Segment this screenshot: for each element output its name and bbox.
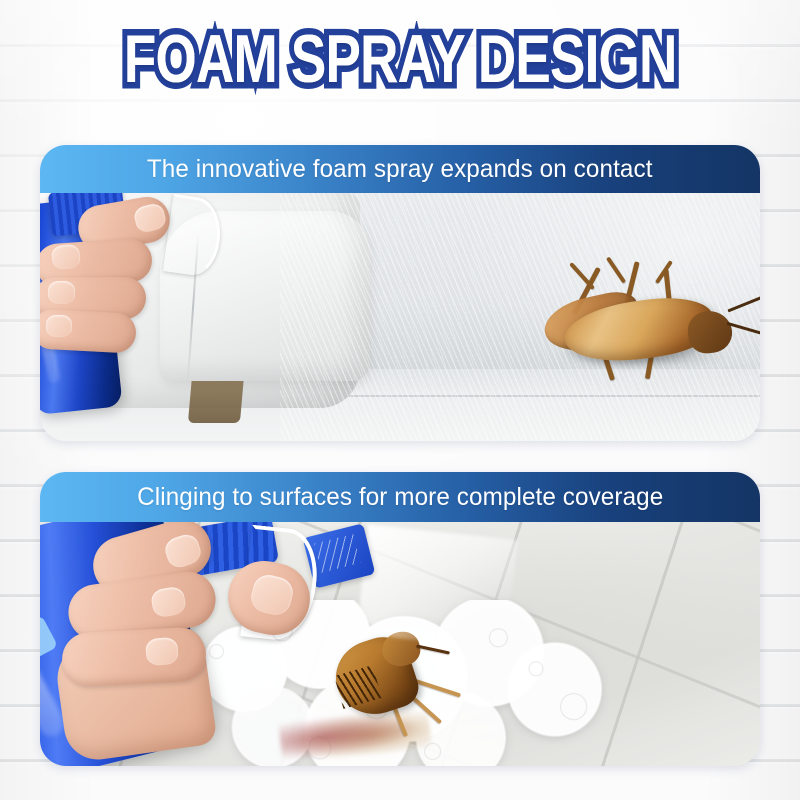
finger bbox=[61, 626, 208, 687]
feature-panel-2: Clinging to surfaces for more complete c… bbox=[40, 472, 760, 766]
fingernail bbox=[145, 637, 179, 666]
bottle-label bbox=[40, 615, 58, 667]
caption-bar-2: Clinging to surfaces for more complete c… bbox=[40, 472, 760, 522]
feature-panel-1: The innovative foam spray expands on con… bbox=[40, 145, 760, 441]
product-photo-spray-on-sofa bbox=[40, 193, 760, 441]
cockroach bbox=[540, 255, 760, 385]
sofa-leg bbox=[188, 375, 244, 423]
caption-bar-1: The innovative foam spray expands on con… bbox=[40, 145, 760, 193]
headline-container: FOAM SPRAY DESIGN FOAM SPRAY DESIGN bbox=[0, 24, 800, 94]
caption-text-2: Clinging to surfaces for more complete c… bbox=[137, 483, 663, 512]
headline-fill-layer: FOAM SPRAY DESIGN bbox=[124, 21, 677, 97]
page-title: FOAM SPRAY DESIGN FOAM SPRAY DESIGN bbox=[124, 24, 677, 94]
fingernail bbox=[46, 315, 72, 337]
caption-text-1: The innovative foam spray expands on con… bbox=[147, 155, 653, 184]
flea-insect bbox=[322, 630, 482, 750]
cockroach-antenna bbox=[727, 289, 760, 313]
product-photo-foam-on-tile bbox=[40, 522, 760, 766]
flea-antenna bbox=[416, 644, 450, 654]
cockroach-leg bbox=[606, 256, 626, 283]
fingernail bbox=[48, 281, 75, 304]
